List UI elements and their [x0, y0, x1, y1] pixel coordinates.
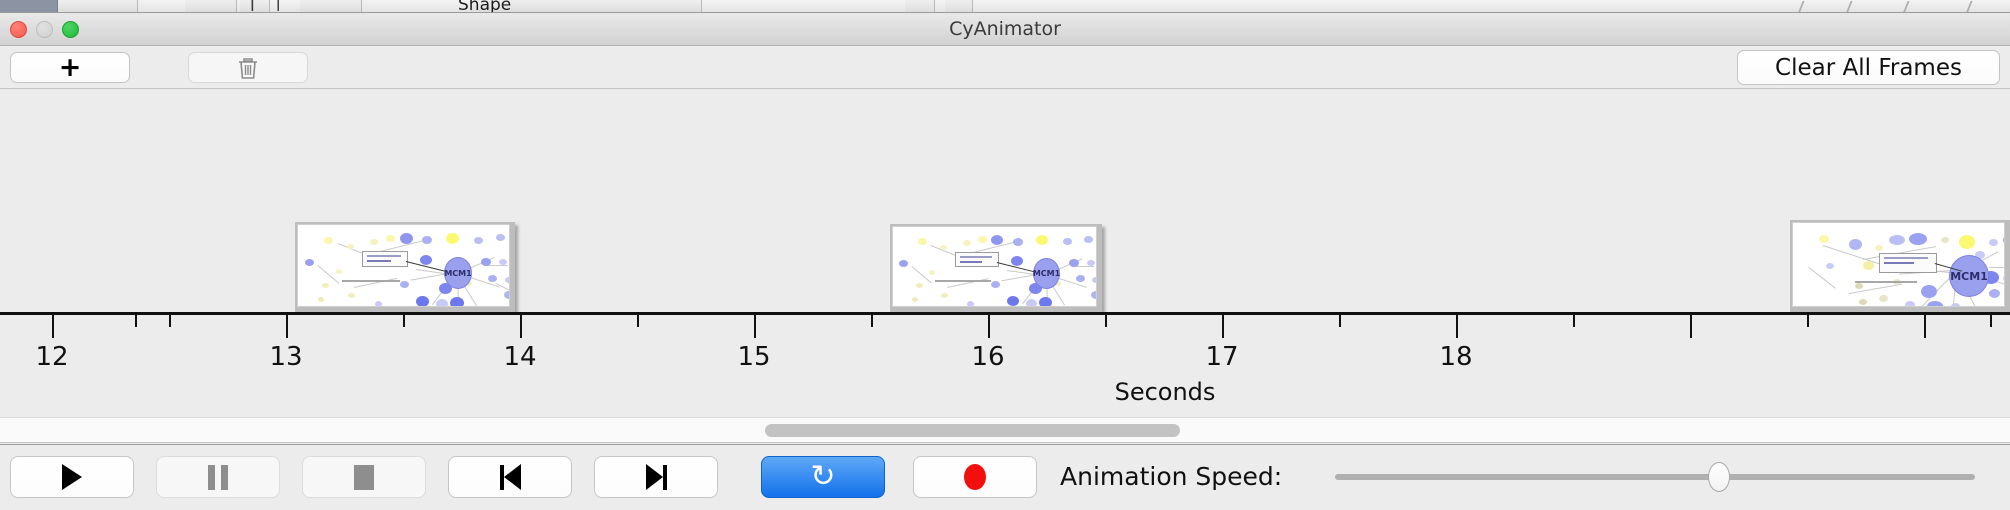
- ruler-axis-title: Seconds: [1115, 378, 1216, 406]
- play-icon: [62, 464, 82, 490]
- slider-knob[interactable]: [1708, 462, 1730, 492]
- ruler-major-tick: [520, 315, 522, 338]
- skip-end-icon: [646, 464, 667, 490]
- record-icon: [964, 464, 986, 490]
- frame-track[interactable]: MCM1: [0, 89, 2010, 312]
- ruler-major-tick: [1924, 315, 1926, 338]
- timeline-scrollbar[interactable]: [0, 417, 2010, 443]
- background-window-strip: I l Shape: [0, 0, 2010, 13]
- frame-toolbar: + Clear All Frames: [0, 46, 2010, 89]
- ruler-major-tick: [754, 315, 756, 338]
- background-tab: [300, 0, 362, 13]
- ruler-label: 13: [269, 342, 302, 372]
- timeline-frame[interactable]: MCM1: [1790, 220, 2010, 312]
- ruler-label: 17: [1205, 342, 1238, 372]
- frame-thumbnail: MCM1: [1792, 222, 2005, 307]
- loop-icon: ↻: [810, 462, 835, 492]
- ruler-major-tick: [1222, 315, 1224, 338]
- loop-button[interactable]: ↻: [761, 456, 885, 498]
- minimize-button[interactable]: [36, 21, 53, 38]
- ruler-minor-tick: [1573, 315, 1575, 327]
- slider-track: [1335, 474, 1975, 480]
- ruler-major-tick: [52, 315, 54, 338]
- background-tab: [945, 0, 973, 13]
- frame-thumbnail: MCM1: [892, 226, 1097, 307]
- animation-speed-slider[interactable]: [1335, 471, 1975, 483]
- background-tab: [240, 0, 270, 13]
- ruler-minor-tick: [135, 315, 137, 327]
- close-button[interactable]: [10, 21, 27, 38]
- background-glyph: I: [250, 0, 255, 13]
- background-slash: [1902, 1, 1921, 13]
- trash-icon: [237, 56, 259, 80]
- stop-icon: [354, 465, 374, 490]
- ruler-label: 12: [35, 342, 68, 372]
- ruler-label: 16: [971, 342, 1004, 372]
- skip-start-button[interactable]: [448, 456, 572, 498]
- maximize-button[interactable]: [62, 21, 79, 38]
- title-bar: CyAnimator: [0, 13, 2010, 46]
- background-tab: [58, 0, 138, 13]
- frame-thumbnail: MCM1: [297, 224, 510, 307]
- ruler-minor-tick: [1339, 315, 1341, 327]
- ruler-minor-tick: [871, 315, 873, 327]
- ruler-minor-tick: [403, 315, 405, 327]
- add-frame-button[interactable]: +: [10, 52, 130, 83]
- timeline-ruler[interactable]: 12 13 14 15 16 17 18 Seconds: [0, 312, 2010, 417]
- skip-start-icon: [500, 464, 521, 490]
- node-tooltip: [1879, 253, 1937, 273]
- ruler-minor-tick: [1105, 315, 1107, 327]
- ruler-major-tick: [1456, 315, 1458, 338]
- ruler-major-tick: [988, 315, 990, 338]
- ruler-major-tick: [1690, 315, 1692, 338]
- ruler-label: 18: [1439, 342, 1472, 372]
- hub-node: MCM1: [1949, 255, 1989, 297]
- animation-speed-label: Animation Speed:: [1060, 456, 1282, 498]
- background-slash: [1965, 1, 1984, 13]
- delete-frame-button[interactable]: [188, 52, 308, 83]
- timeline-frame[interactable]: MCM1: [295, 222, 515, 312]
- scrollbar-thumb[interactable]: [765, 424, 1180, 437]
- hub-node: MCM1: [444, 257, 472, 289]
- ruler-minor-tick: [1990, 315, 1992, 327]
- background-window-label: Shape: [458, 0, 511, 13]
- background-tab: [0, 0, 58, 13]
- plus-icon: +: [59, 54, 82, 81]
- background-glyph: l: [276, 0, 280, 13]
- play-button[interactable]: [10, 456, 134, 498]
- ruler-minor-tick: [637, 315, 639, 327]
- stop-button[interactable]: [302, 456, 426, 498]
- hub-node: MCM1: [1033, 258, 1060, 289]
- skip-end-button[interactable]: [594, 456, 718, 498]
- timeline-frame[interactable]: MCM1: [890, 224, 1102, 312]
- node-tooltip: [955, 252, 999, 267]
- pause-button[interactable]: [156, 456, 280, 498]
- ruler-baseline: [0, 312, 2010, 315]
- background-slash: [1797, 1, 1816, 13]
- ruler-label: 14: [503, 342, 536, 372]
- background-slash: [1845, 1, 1864, 13]
- record-button[interactable]: [913, 456, 1037, 498]
- window-title: CyAnimator: [0, 13, 2010, 46]
- clear-all-frames-button[interactable]: Clear All Frames: [1737, 50, 2000, 85]
- ruler-major-tick: [286, 315, 288, 338]
- traffic-lights: [10, 21, 79, 38]
- ruler-label: 15: [737, 342, 770, 372]
- ruler-minor-tick: [1807, 315, 1809, 327]
- cyanimator-window: I l Shape CyAnimator + Clear All: [0, 0, 2010, 510]
- ruler-minor-tick: [169, 315, 171, 327]
- background-tab: [185, 0, 237, 13]
- pause-icon: [208, 465, 228, 490]
- background-tab: [905, 0, 935, 13]
- playback-bar: ↻ Animation Speed:: [0, 444, 2010, 510]
- node-tooltip: [362, 251, 408, 267]
